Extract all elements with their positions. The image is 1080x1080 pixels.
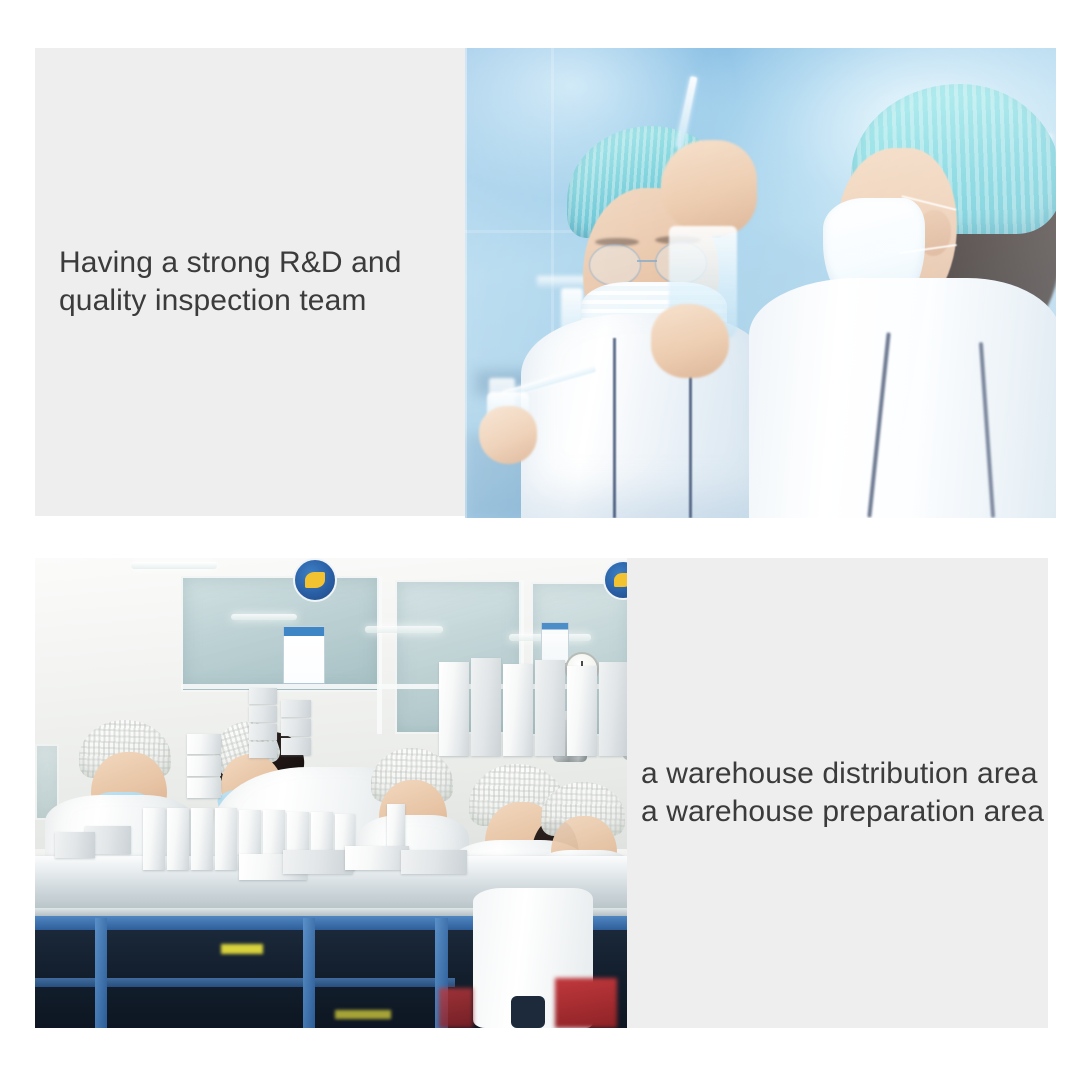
carton-upright [167, 808, 189, 870]
box-stack-item [281, 738, 311, 755]
rnd-caption-lines: Having a strong R&D and quality inspecti… [35, 244, 411, 320]
blue-round-sign-icon [293, 558, 337, 602]
rnd-caption-line-2: quality inspection team [59, 282, 401, 320]
box-stack-item [187, 778, 221, 798]
box-stack-item [281, 719, 311, 736]
warehouse-photo-inner [35, 558, 627, 1028]
dark-object [511, 996, 545, 1028]
carton-upright [191, 808, 213, 870]
carton-upright [143, 808, 165, 870]
floor-marking [335, 1010, 391, 1019]
box-stack-item [249, 742, 277, 758]
carton-flat [283, 850, 353, 874]
warehouse-caption-line-1: a warehouse distribution area [641, 755, 1044, 793]
warehouse-caption-panel: a warehouse distribution area a warehous… [627, 558, 1048, 1028]
warehouse-caption-lines: a warehouse distribution area a warehous… [627, 755, 1048, 831]
box-stack-item [281, 700, 311, 717]
carton-flat [345, 846, 409, 870]
ceiling-light [131, 562, 217, 569]
ceiling-light [231, 614, 297, 620]
box-column [599, 662, 627, 756]
wall-poster [283, 626, 325, 684]
warehouse-caption-line-2: a warehouse preparation area [641, 793, 1044, 831]
box-stack-item [187, 734, 221, 754]
box-stack-item [187, 756, 221, 776]
rnd-caption-panel: Having a strong R&D and quality inspecti… [35, 48, 465, 516]
wall-poster [541, 622, 569, 664]
cleanroom-window [181, 576, 381, 692]
lab-haze-overlay [465, 48, 1056, 518]
box-stack-item [249, 688, 277, 704]
table-frame-post [95, 918, 107, 1028]
box-column [503, 664, 533, 756]
carton-flat [401, 850, 467, 874]
box-column [471, 658, 501, 756]
box-column [567, 666, 597, 756]
box-stack-item [249, 706, 277, 722]
page-canvas: Having a strong R&D and quality inspecti… [0, 0, 1080, 1080]
rnd-lab-photo [465, 48, 1056, 518]
warehouse-photo [35, 558, 627, 1028]
box-column [439, 662, 469, 756]
red-object [555, 978, 617, 1028]
red-object [439, 988, 473, 1028]
carton-upright [215, 808, 237, 870]
floor-marking [221, 944, 263, 954]
rnd-caption-line-1: Having a strong R&D and [59, 244, 401, 282]
table-frame-post [303, 918, 315, 1028]
box-column [535, 660, 565, 756]
box-stack-item [249, 724, 277, 740]
rnd-lab-photo-inner [465, 48, 1056, 518]
carton-flat [55, 832, 95, 858]
ceiling-light [365, 626, 443, 633]
